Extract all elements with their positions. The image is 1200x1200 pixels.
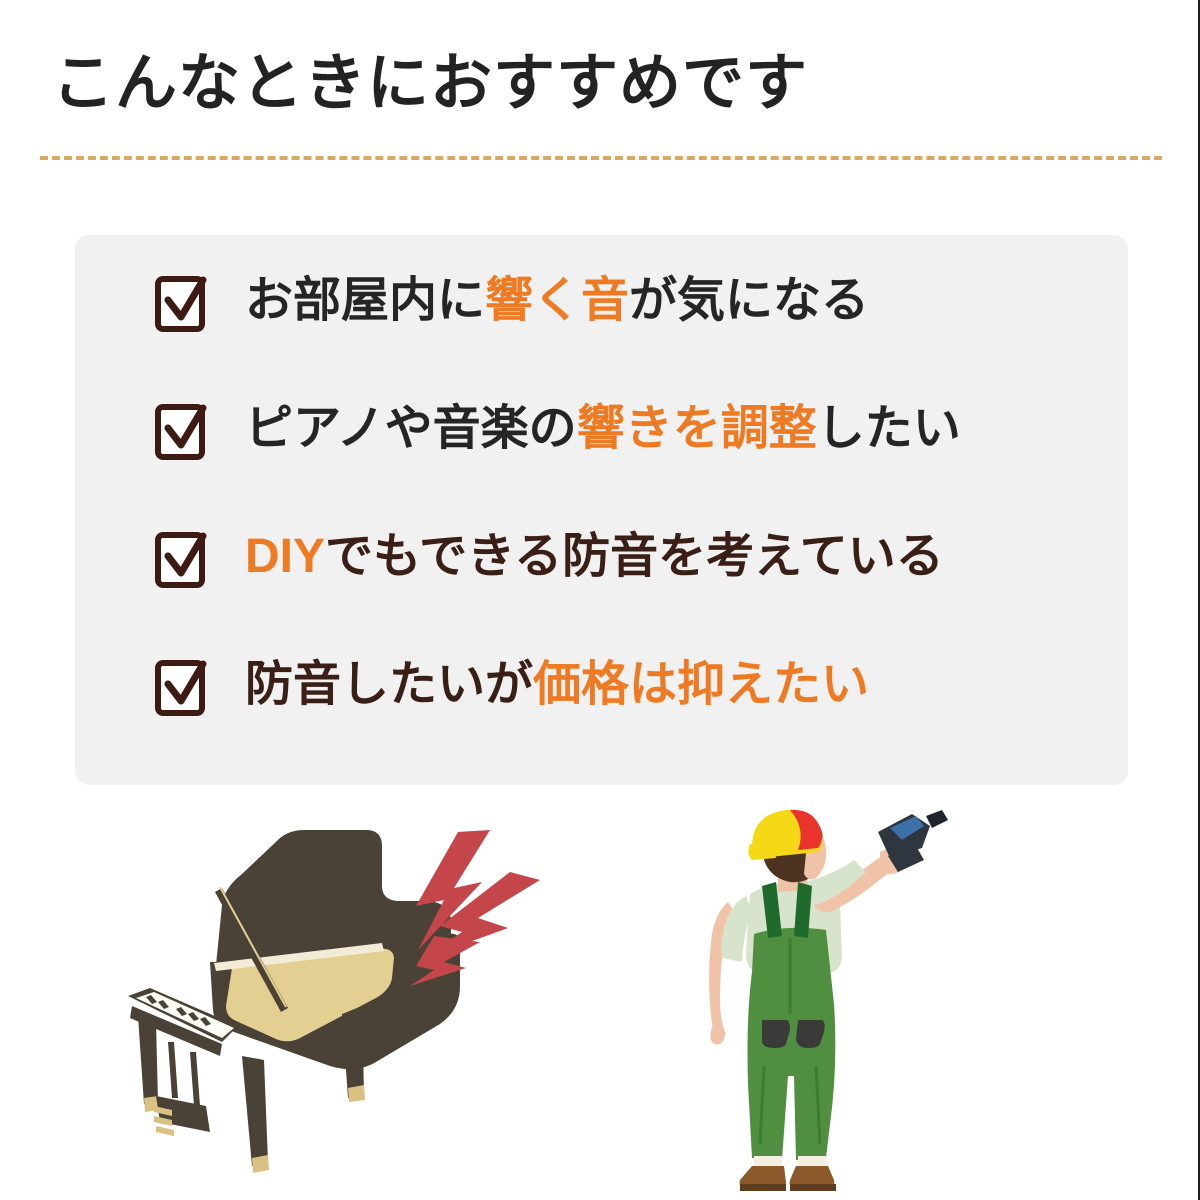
checklist-item-diy[interactable]: DIYでもできる防音を考えている xyxy=(155,521,944,593)
checkbox-checked-icon[interactable] xyxy=(155,270,211,332)
checklist-panel: お部屋内に響く音が気になる ピアノや音楽の響きを調整したい xyxy=(75,235,1128,785)
piano-leg-center xyxy=(242,1056,268,1166)
diy-worker-illustration xyxy=(690,808,950,1200)
checkbox-checked-icon[interactable] xyxy=(155,654,211,716)
piano-caster-center xyxy=(252,1155,269,1173)
header-divider xyxy=(40,156,1162,160)
piano-lyre-rod-a xyxy=(168,1042,178,1098)
label-segment-highlight: 響きを調整 xyxy=(577,402,817,455)
piano-leg-right xyxy=(342,1006,364,1098)
header: こんなときにおすすめです xyxy=(0,0,1200,175)
worker-pocket-left xyxy=(762,1020,790,1048)
checkbox-checked-icon[interactable] xyxy=(155,526,211,588)
label-segment-plain: 防音したいが xyxy=(245,658,533,711)
label-segment-plain: が気になる xyxy=(629,274,869,327)
label-segment-plain: でもできる防音を考えている xyxy=(325,530,944,583)
label-segment-plain: ピアノや音楽の xyxy=(245,402,577,455)
checklist-item-label: ピアノや音楽の響きを調整したい xyxy=(245,400,961,458)
checklist-item-piano-tuning[interactable]: ピアノや音楽の響きを調整したい xyxy=(155,393,961,465)
label-segment-plain: お部屋内に xyxy=(245,274,485,327)
drill-bit xyxy=(926,810,948,828)
grand-piano-illustration xyxy=(110,810,590,1200)
checkbox-checked-icon[interactable] xyxy=(155,398,211,460)
piano-pedals xyxy=(154,1106,174,1136)
label-segment-highlight: 価格は抑えたい xyxy=(533,658,869,711)
checklist-item-label: お部屋内に響く音が気になる xyxy=(245,272,869,330)
checklist-item-label: 防音したいが価格は抑えたい xyxy=(245,656,869,714)
piano-lyre-rod-b xyxy=(190,1052,200,1106)
page-title: こんなときにおすすめです xyxy=(52,46,808,122)
label-segment-highlight: DIY xyxy=(245,530,325,583)
checklist-item-price[interactable]: 防音したいが価格は抑えたい xyxy=(155,649,869,721)
illustration-area xyxy=(0,800,1200,1200)
piano-leg-front-left xyxy=(138,1016,158,1104)
page-root: こんなときにおすすめです お部屋内に響く音が気になる xyxy=(0,0,1200,1200)
checklist-item-label: DIYでもできる防音を考えている xyxy=(245,528,944,586)
label-segment-plain: したい xyxy=(817,402,961,455)
piano-caster-right xyxy=(348,1085,365,1102)
label-segment-highlight: 響く音 xyxy=(485,274,629,327)
checklist-item-echo[interactable]: お部屋内に響く音が気になる xyxy=(155,265,869,337)
